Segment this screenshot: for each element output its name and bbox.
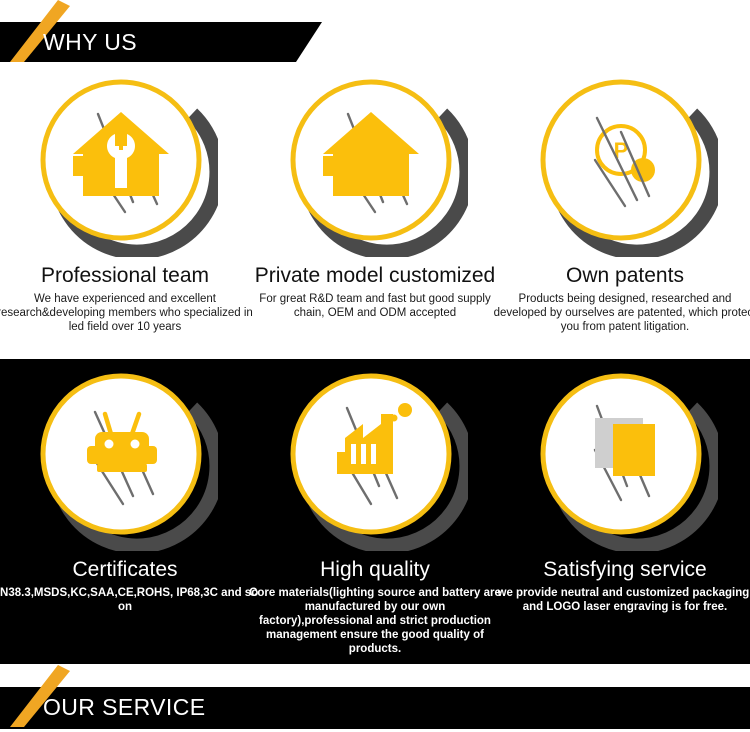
panel-gap bbox=[0, 664, 750, 687]
feature-card-certificates[interactable]: Certificates UN38.3,MSDS,KC,SAA,CE,ROHS,… bbox=[0, 366, 250, 656]
section-header-why-us: WHY US bbox=[0, 22, 750, 62]
feature-title: Own patents bbox=[566, 263, 684, 289]
feature-card-private-model[interactable]: Private model customized For great R&D t… bbox=[250, 72, 500, 334]
feature-body: UN38.3,MSDS,KC,SAA,CE,ROHS, IP68,3C and … bbox=[0, 586, 259, 614]
feature-body: We have experienced and excellent resear… bbox=[0, 292, 259, 334]
house-icon bbox=[283, 72, 468, 257]
badge-certificates bbox=[33, 366, 218, 551]
robot-head-icon bbox=[33, 366, 218, 551]
feature-row-bottom: Certificates UN38.3,MSDS,KC,SAA,CE,ROHS,… bbox=[0, 366, 750, 656]
banner-title: OUR SERVICE bbox=[43, 687, 205, 727]
feature-title: High quality bbox=[320, 557, 430, 583]
feature-card-own-patents[interactable]: P Own patents Products being designed, r… bbox=[500, 72, 750, 334]
badge-own-patents: P bbox=[533, 72, 718, 257]
badge-satisfying-service bbox=[533, 366, 718, 551]
patent-p-icon: P bbox=[533, 72, 718, 257]
bottom-rule bbox=[0, 727, 750, 729]
feature-body: Products being designed, researched and … bbox=[491, 292, 750, 334]
feature-body: For great R&D team and fast but good sup… bbox=[249, 292, 501, 320]
feature-title: Satisfying service bbox=[543, 557, 706, 583]
feature-row-top: Professional team We have experienced an… bbox=[0, 72, 750, 334]
section-header-our-service: OUR SERVICE bbox=[0, 687, 750, 727]
feature-title: Certificates bbox=[72, 557, 177, 583]
feature-title: Private model customized bbox=[255, 263, 495, 289]
package-boxes-icon bbox=[533, 366, 718, 551]
badge-high-quality bbox=[283, 366, 468, 551]
feature-card-high-quality[interactable]: High quality Core materials(lighting sou… bbox=[250, 366, 500, 656]
banner-title: WHY US bbox=[43, 22, 137, 62]
badge-professional-team bbox=[33, 72, 218, 257]
feature-body: we provide neutral and customized packag… bbox=[491, 586, 750, 614]
feature-title: Professional team bbox=[41, 263, 209, 289]
feature-body: Core materials(lighting source and batte… bbox=[249, 586, 501, 656]
house-wrench-icon bbox=[33, 72, 218, 257]
factory-icon bbox=[283, 366, 468, 551]
feature-card-professional-team[interactable]: Professional team We have experienced an… bbox=[0, 72, 250, 334]
feature-card-satisfying-service[interactable]: Satisfying service we provide neutral an… bbox=[500, 366, 750, 656]
badge-private-model bbox=[283, 72, 468, 257]
